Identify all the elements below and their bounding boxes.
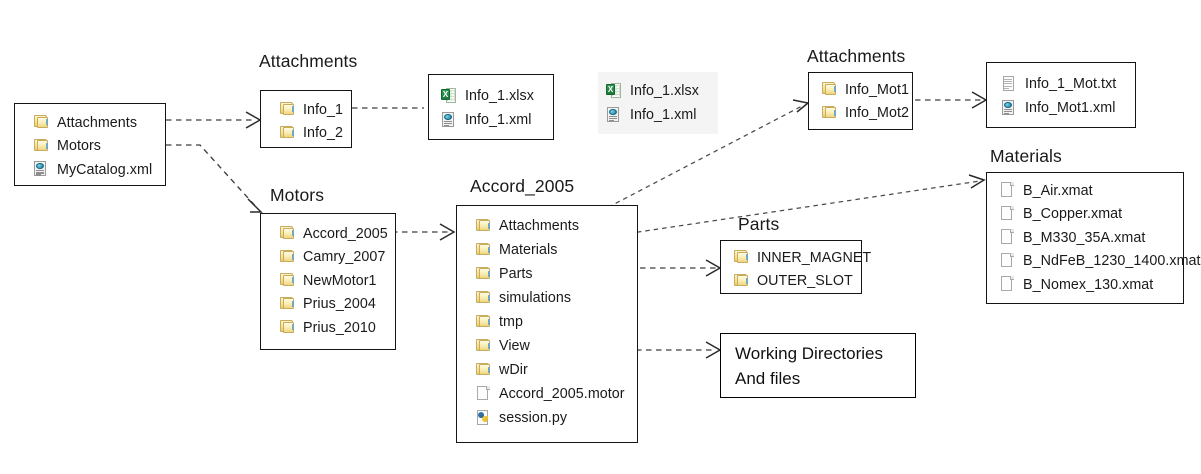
node-motors[interactable]: Accord_2005 Camry_2007 NewMotor1 Prius_2… bbox=[260, 213, 396, 350]
list-item[interactable]: Info_1_Mot.txt bbox=[987, 72, 1135, 96]
node-info1-files[interactable]: X Info_1.xlsx Info_1.xml bbox=[428, 74, 554, 140]
folder-icon bbox=[33, 137, 50, 156]
list-item[interactable]: Info_Mot2 bbox=[809, 102, 912, 126]
list-item[interactable]: Info_Mot1 bbox=[809, 78, 912, 102]
list-item-label: MyCatalog.xml bbox=[57, 162, 152, 178]
info1-files-secondary-items: X Info_1.xlsx Info_1.xml bbox=[598, 72, 718, 134]
list-item-label: B_M330_35A.xmat bbox=[1023, 230, 1145, 246]
list-item[interactable]: Prius_2010 bbox=[261, 316, 395, 340]
xlsx-file-icon: X bbox=[441, 87, 458, 106]
generic-file-icon bbox=[999, 275, 1016, 294]
caption-motors: Motors bbox=[270, 187, 324, 205]
python-file-icon bbox=[475, 409, 492, 428]
xml-file-icon bbox=[33, 160, 50, 179]
folder-icon bbox=[475, 289, 492, 308]
list-item[interactable]: Camry_2007 bbox=[261, 246, 395, 270]
list-item-label: Attachments bbox=[57, 115, 137, 131]
node-working-directories[interactable]: Working Directories And files bbox=[720, 333, 916, 398]
xlsx-file-icon: X bbox=[606, 82, 623, 101]
list-item-label: Info_1 bbox=[303, 102, 343, 118]
caption-accord: Accord_2005 bbox=[470, 178, 574, 196]
arrowhead-accord bbox=[440, 224, 454, 240]
list-item-label: Prius_2004 bbox=[303, 296, 376, 312]
list-item-label: Info_1.xlsx bbox=[630, 83, 699, 99]
materials-items: B_Air.xmat B_Copper.xmat B_M330_35A.xmat… bbox=[987, 173, 1183, 304]
list-item-label: NewMotor1 bbox=[303, 273, 377, 289]
generic-file-icon bbox=[999, 205, 1016, 224]
list-item[interactable]: Info_2 bbox=[261, 122, 351, 146]
arrowhead-attachments bbox=[246, 112, 260, 128]
list-item-label: Info_1_Mot.txt bbox=[1025, 76, 1116, 92]
node-materials[interactable]: B_Air.xmat B_Copper.xmat B_M330_35A.xmat… bbox=[986, 172, 1184, 304]
list-item-label: Info_1.xml bbox=[465, 112, 531, 128]
generic-file-icon bbox=[999, 228, 1016, 247]
list-item-label: Info_Mot1 bbox=[845, 82, 909, 98]
node-info1-files-secondary[interactable]: X Info_1.xlsx Info_1.xml bbox=[598, 72, 718, 134]
list-item[interactable]: Materials bbox=[457, 238, 637, 262]
list-item[interactable]: Info_1 bbox=[261, 98, 351, 122]
list-item-label: View bbox=[499, 338, 530, 354]
node-accord[interactable]: Attachments Materials Parts simulations … bbox=[456, 205, 638, 443]
folder-icon bbox=[279, 318, 296, 337]
caption-attachments-motor: Attachments bbox=[807, 48, 905, 66]
folder-icon bbox=[279, 100, 296, 119]
folder-icon bbox=[475, 361, 492, 380]
xml-file-icon bbox=[606, 106, 623, 125]
list-item-label: Accord_2005 bbox=[303, 226, 388, 242]
node-attachments-catalog[interactable]: Info_1 Info_2 bbox=[260, 90, 352, 148]
folder-icon bbox=[475, 337, 492, 356]
arrowhead-accord-materials bbox=[969, 175, 984, 188]
list-item[interactable]: tmp bbox=[457, 310, 637, 334]
list-item-label: Materials bbox=[499, 242, 557, 258]
parts-items: INNER_MAGNET OUTER_SLOT bbox=[721, 241, 861, 300]
root-items: Attachments Motors MyCatalog.xml bbox=[15, 104, 165, 189]
list-item[interactable]: Motors bbox=[15, 135, 165, 159]
list-item[interactable]: B_NdFeB_1230_1400.xmat bbox=[987, 250, 1183, 274]
list-item-label: OUTER_SLOT bbox=[757, 273, 853, 289]
folder-icon bbox=[821, 80, 838, 99]
node-parts[interactable]: INNER_MAGNET OUTER_SLOT bbox=[720, 240, 862, 294]
list-item[interactable]: Attachments bbox=[15, 111, 165, 135]
node-root[interactable]: Attachments Motors MyCatalog.xml bbox=[14, 103, 166, 186]
list-item[interactable]: Info_1.xml bbox=[598, 103, 718, 127]
txt-file-icon bbox=[1001, 75, 1018, 94]
folder-icon bbox=[475, 313, 492, 332]
folder-icon bbox=[279, 295, 296, 314]
list-item-label: Parts bbox=[499, 266, 533, 282]
folder-icon bbox=[33, 113, 50, 132]
list-item[interactable]: Info_1.xml bbox=[429, 108, 553, 132]
generic-file-icon bbox=[999, 181, 1016, 200]
working-directories-line-1: Working Directories bbox=[735, 341, 915, 366]
list-item-label: B_NdFeB_1230_1400.xmat bbox=[1023, 253, 1201, 269]
list-item[interactable]: B_Air.xmat bbox=[987, 179, 1183, 203]
folder-icon bbox=[475, 265, 492, 284]
xml-file-icon bbox=[1001, 99, 1018, 118]
folder-icon bbox=[279, 248, 296, 267]
list-item[interactable]: B_Nomex_130.xmat bbox=[987, 273, 1183, 297]
list-item-label: B_Nomex_130.xmat bbox=[1023, 277, 1153, 293]
xml-file-icon bbox=[441, 111, 458, 130]
arrowhead-working bbox=[706, 342, 720, 358]
list-item-label: B_Air.xmat bbox=[1023, 183, 1093, 199]
arrowhead-motfiles bbox=[972, 92, 986, 108]
diagram-canvas: Attachments Motors MyCatalog.xml Attachm… bbox=[0, 0, 1201, 474]
generic-file-icon bbox=[475, 385, 492, 404]
list-item[interactable]: Accord_2005 bbox=[261, 222, 395, 246]
list-item-label: Camry_2007 bbox=[303, 249, 385, 265]
list-item-label: B_Copper.xmat bbox=[1023, 206, 1122, 222]
list-item[interactable]: INNER_MAGNET bbox=[721, 246, 861, 270]
list-item-label: Info_1.xlsx bbox=[465, 88, 534, 104]
list-item[interactable]: session.py bbox=[457, 406, 637, 430]
folder-icon bbox=[279, 271, 296, 290]
accord-items: Attachments Materials Parts simulations … bbox=[457, 206, 637, 437]
list-item-label: Prius_2010 bbox=[303, 320, 376, 336]
folder-icon bbox=[733, 248, 750, 267]
list-item-label: Info_2 bbox=[303, 125, 343, 141]
list-item-label: Attachments bbox=[499, 218, 579, 234]
list-item[interactable]: Parts bbox=[457, 262, 637, 286]
node-attachments-motor[interactable]: Info_Mot1 Info_Mot2 bbox=[808, 72, 913, 130]
folder-icon bbox=[279, 224, 296, 243]
list-item-label: Info_Mot2 bbox=[845, 105, 909, 121]
list-item[interactable]: OUTER_SLOT bbox=[721, 270, 861, 294]
list-item-label: Info_1.xml bbox=[630, 107, 696, 123]
generic-file-icon bbox=[999, 252, 1016, 271]
caption-parts: Parts bbox=[738, 216, 779, 234]
list-item-label: Accord_2005.motor bbox=[499, 386, 625, 402]
list-item-label: simulations bbox=[499, 290, 571, 306]
folder-icon bbox=[279, 124, 296, 143]
list-item-label: session.py bbox=[499, 410, 567, 426]
working-directories-line-2: And files bbox=[735, 366, 915, 391]
folder-icon bbox=[821, 104, 838, 123]
node-mot-files[interactable]: Info_1_Mot.txt Info_Mot1.xml bbox=[986, 62, 1136, 128]
list-item[interactable]: Info_Mot1.xml bbox=[987, 96, 1135, 120]
list-item[interactable]: NewMotor1 bbox=[261, 269, 395, 293]
link-root-motors bbox=[166, 145, 258, 209]
list-item[interactable]: X Info_1.xlsx bbox=[598, 79, 718, 103]
list-item[interactable]: MyCatalog.xml bbox=[15, 158, 165, 182]
arrowhead-parts bbox=[706, 260, 720, 276]
list-item[interactable]: Accord_2005.motor bbox=[457, 382, 637, 406]
list-item-label: tmp bbox=[499, 314, 523, 330]
list-item-label: INNER_MAGNET bbox=[757, 250, 871, 266]
list-item-label: Info_Mot1.xml bbox=[1025, 100, 1115, 116]
list-item-label: Motors bbox=[57, 138, 101, 154]
caption-materials: Materials bbox=[990, 148, 1062, 166]
list-item[interactable]: Attachments bbox=[457, 214, 637, 238]
list-item[interactable]: X Info_1.xlsx bbox=[429, 84, 553, 108]
motors-items: Accord_2005 Camry_2007 NewMotor1 Prius_2… bbox=[261, 214, 395, 347]
list-item[interactable]: View bbox=[457, 334, 637, 358]
caption-attachments-catalog: Attachments bbox=[259, 53, 357, 71]
folder-icon bbox=[475, 241, 492, 260]
arrowhead-accord-attachments bbox=[793, 100, 808, 112]
list-item-label: wDir bbox=[499, 362, 528, 378]
mot-files-items: Info_1_Mot.txt Info_Mot1.xml bbox=[987, 63, 1135, 127]
list-item[interactable]: simulations bbox=[457, 286, 637, 310]
list-item[interactable]: B_Copper.xmat bbox=[987, 203, 1183, 227]
folder-icon bbox=[733, 272, 750, 291]
list-item[interactable]: Prius_2004 bbox=[261, 293, 395, 317]
info1-files-items: X Info_1.xlsx Info_1.xml bbox=[429, 75, 553, 139]
arrowhead-motors bbox=[248, 199, 261, 212]
attachments-catalog-items: Info_1 Info_2 bbox=[261, 91, 351, 152]
list-item[interactable]: B_M330_35A.xmat bbox=[987, 226, 1183, 250]
attachments-motor-items: Info_Mot1 Info_Mot2 bbox=[809, 73, 912, 132]
list-item[interactable]: wDir bbox=[457, 358, 637, 382]
folder-icon bbox=[475, 217, 492, 236]
